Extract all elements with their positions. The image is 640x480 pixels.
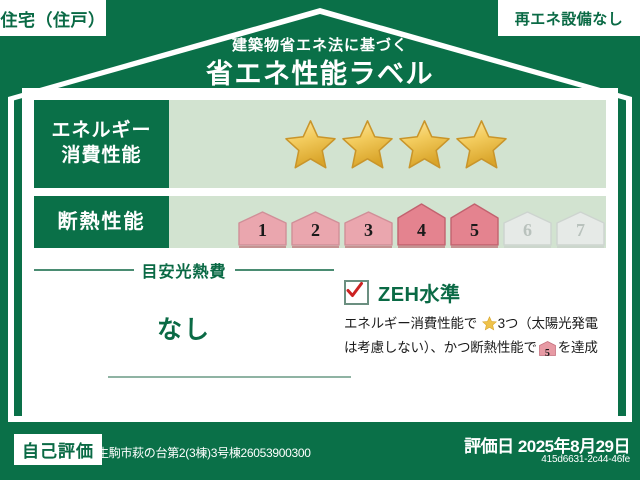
zeh-description: エネルギー消費性能で 3つ（太陽光発電は考慮しない）、かつ断熱性能で 5 を達成	[344, 314, 606, 363]
star-icon	[398, 118, 451, 171]
star-icon	[341, 118, 394, 171]
energy-performance-label: 住宅（住戸） 再エネ設備なし 建築物省エネ法に基づく 省エネ性能ラベル エネルギ…	[0, 0, 640, 480]
energy-performance-label-box: エネルギー 消費性能	[34, 100, 169, 188]
grade-number: 1	[237, 220, 288, 241]
grade-number: 3	[343, 220, 394, 241]
utility-cost-block: 目安光熱費 なし	[34, 258, 334, 346]
lower-section: 目安光熱費 なし ZEH水準 エネルギー消費性能で	[34, 258, 606, 410]
insulation-grade-7: 7	[555, 211, 606, 248]
zeh-desc-part3: を達成	[558, 340, 598, 355]
zeh-standard-block: ZEH水準 エネルギー消費性能で 3つ（太陽光発電は考慮しない）、かつ断熱性能で…	[344, 278, 606, 363]
zeh-checkbox-checked-icon	[344, 280, 369, 305]
insulation-grade-scale: 1234567	[169, 196, 606, 248]
heading-rule-right	[235, 269, 335, 271]
content-card: エネルギー 消費性能 断熱性能 1234567 目安光熱費	[22, 88, 618, 422]
badge-building-type: 住宅（住戸）	[0, 0, 106, 36]
star-icon	[284, 118, 337, 171]
insulation-performance-row: 断熱性能 1234567	[34, 196, 606, 248]
grade-number: 4	[396, 220, 447, 241]
energy-label-line1: エネルギー	[51, 119, 151, 144]
insulation-performance-label-box: 断熱性能	[34, 196, 169, 248]
insulation-grade-1: 1	[237, 211, 288, 248]
star-icon	[455, 118, 508, 171]
footer: 自己評価 生駒市萩の台第2(3棟)3号棟26053900300 評価日 2025…	[0, 422, 640, 480]
zeh-title: ZEH水準	[378, 278, 461, 307]
inline-star-icon	[478, 319, 497, 334]
insulation-performance-value: 1234567	[169, 196, 606, 248]
heading-rule-left	[34, 269, 134, 271]
insulation-grade-5: 5	[449, 203, 500, 248]
section-divider	[108, 376, 351, 378]
grade-number: 7	[555, 220, 606, 241]
energy-performance-row: エネルギー 消費性能	[34, 100, 606, 188]
inline-house-grade-icon: 5	[539, 341, 556, 363]
insulation-grade-6: 6	[502, 211, 553, 248]
insulation-grade-4: 4	[396, 203, 447, 248]
energy-label-line2: 消費性能	[61, 144, 141, 169]
insulation-label-text: 断熱性能	[58, 209, 146, 235]
grade-number: 6	[502, 220, 553, 241]
grade-number: 2	[290, 220, 341, 241]
grade-number: 5	[449, 220, 500, 241]
utility-cost-heading: 目安光熱費	[34, 258, 334, 282]
utility-cost-value: なし	[34, 310, 334, 346]
evaluation-type-badge: 自己評価	[14, 434, 102, 465]
insulation-grade-3: 3	[343, 211, 394, 248]
inline-house-number: 5	[539, 346, 556, 362]
insulation-grade-2: 2	[290, 211, 341, 248]
badge-renewable-equipment: 再エネ設備なし	[498, 0, 640, 36]
building-name: 生駒市萩の台第2(3棟)3号棟26053900300	[97, 444, 311, 461]
utility-cost-heading-text: 目安光熱費	[142, 258, 227, 282]
zeh-title-line: ZEH水準	[344, 278, 606, 307]
star-rating	[169, 118, 508, 171]
energy-performance-value	[169, 100, 606, 188]
evaluation-id: 415d6631-2c44-46fe	[541, 454, 630, 465]
zeh-desc-part1: エネルギー消費性能で	[344, 316, 477, 331]
